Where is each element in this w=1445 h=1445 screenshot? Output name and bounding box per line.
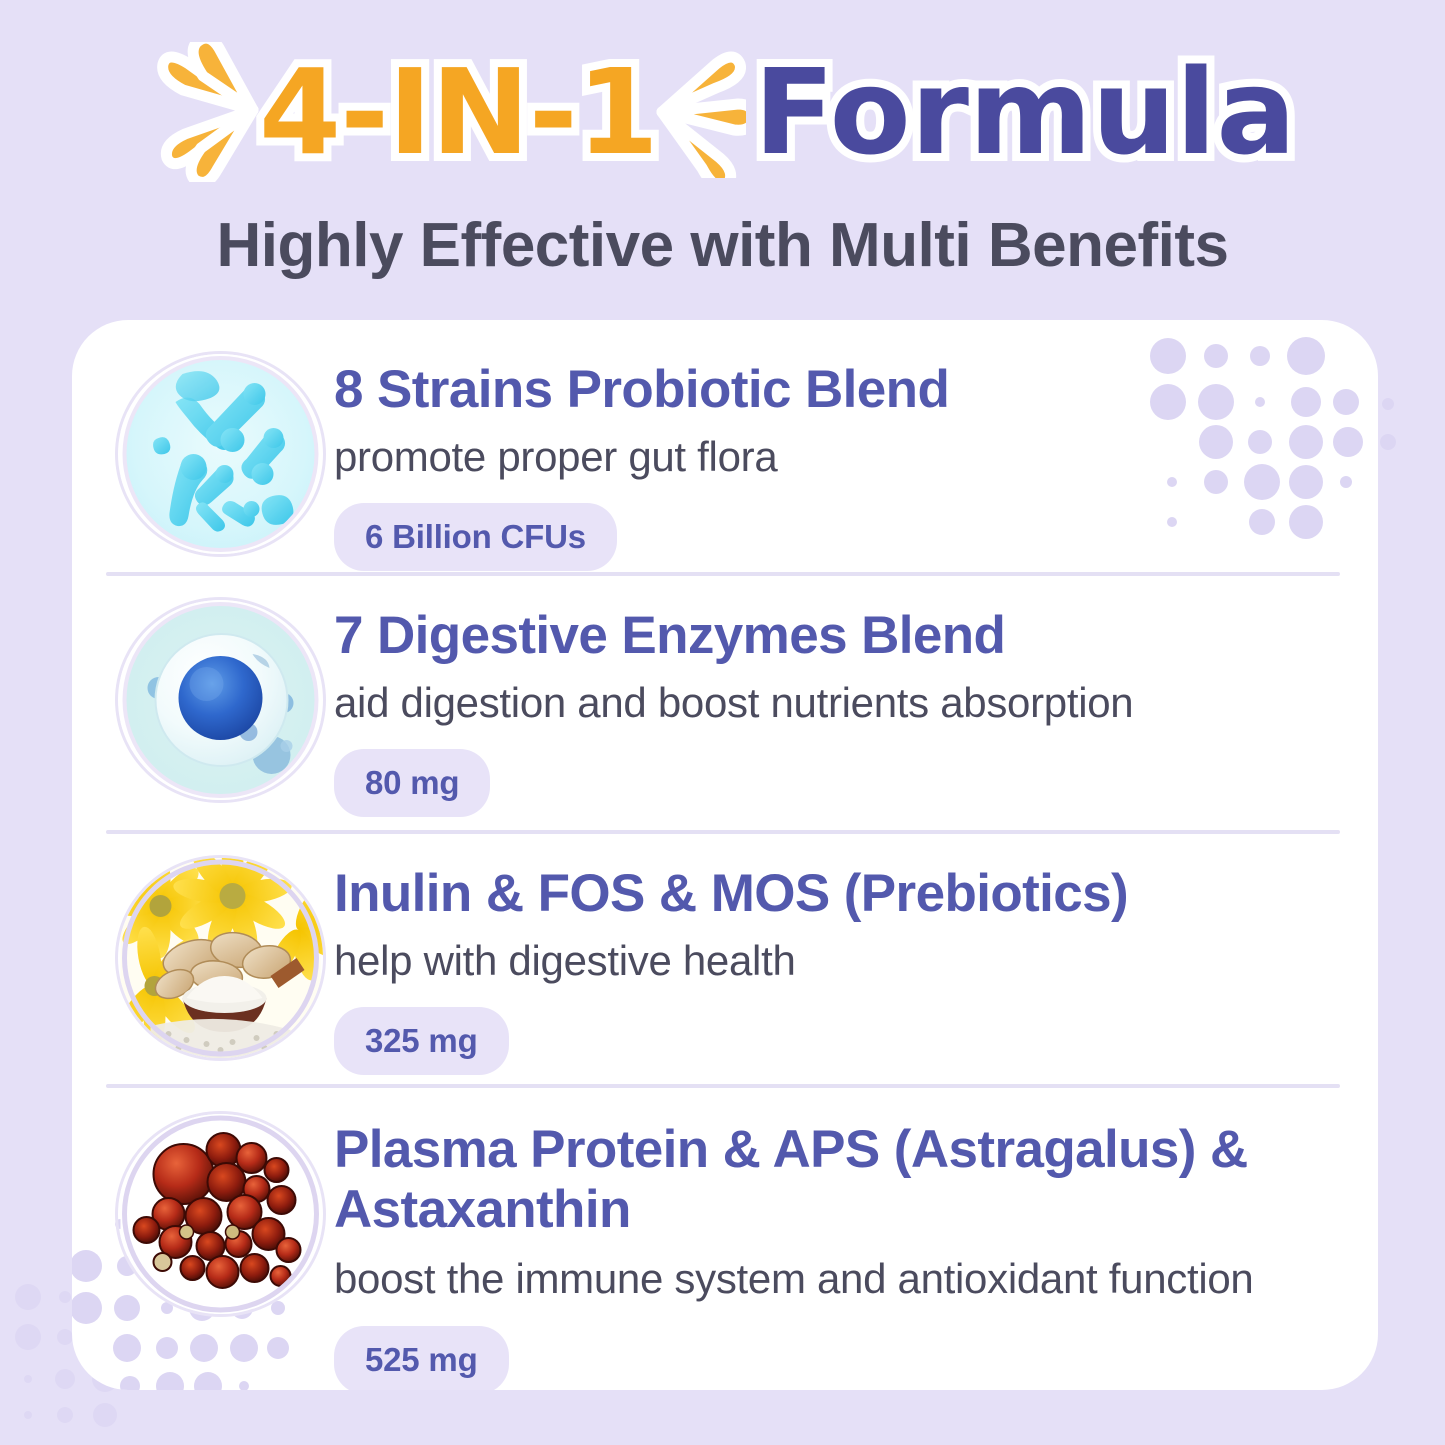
benefit-icon-wrap [106, 1102, 334, 1314]
benefit-title: Inulin & FOS & MOS (Prebiotics) [334, 864, 1344, 924]
benefit-title: 7 Digestive Enzymes Blend [334, 606, 1344, 666]
title-row: 4-IN-1 Formula [0, 42, 1445, 182]
benefit-icon-wrap [106, 588, 334, 800]
page-subtitle: Highly Effective with Multi Benefits [0, 210, 1445, 281]
status-badge: 325 mg [334, 1007, 509, 1075]
benefits-card: 8 Strains Probiotic Blend promote proper… [72, 320, 1378, 1390]
inulin-chicory-root-icon [118, 858, 323, 1058]
benefit-description: aid digestion and boost nutrients absorp… [334, 678, 1344, 728]
benefit-title: 8 Strains Probiotic Blend [334, 360, 1344, 420]
benefit-description: promote proper gut flora [334, 432, 1344, 482]
sparkle-burst-icon [654, 46, 746, 178]
status-badge: 6 Billion CFUs [334, 503, 617, 571]
benefit-text: Plasma Protein & APS (Astragalus) & Asta… [334, 1102, 1344, 1390]
infographic-page: 4-IN-1 Formula Highly Effective with Mul… [0, 0, 1445, 1445]
benefit-description: help with digestive health [334, 936, 1344, 986]
status-badge: 80 mg [334, 749, 490, 817]
astaxanthin-algae-cells-icon [118, 1114, 323, 1314]
list-item: 8 Strains Probiotic Blend promote proper… [72, 320, 1378, 572]
enzyme-cell-icon [118, 600, 323, 800]
benefits-list: 8 Strains Probiotic Blend promote proper… [72, 320, 1378, 1390]
benefit-text: 8 Strains Probiotic Blend promote proper… [334, 342, 1344, 571]
benefit-text: 7 Digestive Enzymes Blend aid digestion … [334, 588, 1344, 817]
benefit-title: Plasma Protein & APS (Astragalus) & Asta… [334, 1120, 1344, 1240]
benefit-icon-wrap [106, 342, 334, 554]
sparkle-burst-icon [149, 42, 261, 182]
benefit-description: boost the immune system and antioxidant … [334, 1254, 1344, 1304]
list-item: Inulin & FOS & MOS (Prebiotics) help wit… [72, 834, 1378, 1084]
benefit-icon-wrap [106, 846, 334, 1058]
list-item: Plasma Protein & APS (Astragalus) & Asta… [72, 1088, 1378, 1390]
status-badge: 525 mg [334, 1326, 509, 1390]
header: 4-IN-1 Formula Highly Effective with Mul… [0, 0, 1445, 312]
probiotic-bacteria-icon [118, 354, 323, 554]
title-main: Formula [754, 53, 1296, 171]
list-item: 7 Digestive Enzymes Blend aid digestion … [72, 576, 1378, 830]
benefit-text: Inulin & FOS & MOS (Prebiotics) help wit… [334, 846, 1344, 1075]
title-highlight: 4-IN-1 [259, 53, 658, 171]
